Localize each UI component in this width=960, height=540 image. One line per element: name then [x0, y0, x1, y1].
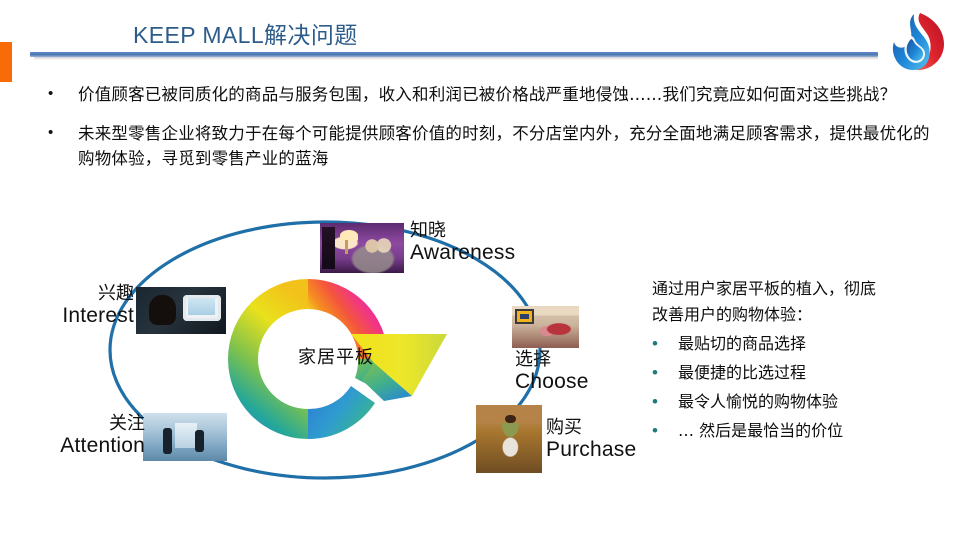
- benefit-text: … 然后是最恰当的价位: [678, 418, 843, 444]
- stage-label-en: Awareness: [410, 241, 515, 265]
- stage-label-en: Choose: [515, 370, 589, 394]
- bullet-text: 价值顾客已被同质化的商品与服务包围，收入和利润已被价格战严重地侵蚀……我们究竟应…: [78, 82, 896, 107]
- bullet-item: • 未来型零售企业将致力于在每个可能提供顾客价值的时刻，不分店堂内外，充分全面地…: [42, 121, 932, 171]
- stage-label-cn: 购买: [546, 418, 636, 438]
- stage-label-cn: 兴趣: [8, 284, 134, 304]
- cycle-stage-interest: 兴趣 Interest: [8, 284, 134, 328]
- bullet-marker: •: [42, 82, 78, 106]
- stage-label-en: Interest: [8, 304, 134, 328]
- benefit-item: • 最令人愉悦的购物体验: [652, 389, 952, 415]
- benefit-text: 最令人愉悦的购物体验: [678, 389, 838, 415]
- stage-label-cn: 关注: [5, 414, 145, 434]
- benefits-panel: 通过用户家居平板的植入，彻底 改善用户的购物体验： • 最贴切的商品选择 • 最…: [652, 276, 952, 444]
- shopper-checkout-photo: [476, 405, 542, 473]
- cycle-stage-choose: 选择 Choose: [515, 350, 589, 394]
- cycle-center-label: 家居平板: [298, 343, 374, 369]
- cycle-stage-awareness: 知晓 Awareness: [410, 221, 515, 265]
- benefit-bullet-marker: •: [652, 418, 678, 444]
- benefit-text: 最便捷的比选过程: [678, 360, 806, 386]
- benefit-bullet-marker: •: [652, 331, 678, 357]
- benefit-item: • … 然后是最恰当的价位: [652, 418, 952, 444]
- benefit-text: 最贴切的商品选择: [678, 331, 806, 357]
- stage-label-cn: 选择: [515, 350, 589, 370]
- benefit-bullet-marker: •: [652, 360, 678, 386]
- cycle-stage-attention: 关注 Attention: [5, 414, 145, 458]
- benefit-bullet-marker: •: [652, 389, 678, 415]
- corridor-walkers-photo: [143, 413, 227, 461]
- company-flame-logo: [884, 8, 952, 76]
- benefits-intro-line-1: 通过用户家居平板的植入，彻底: [652, 276, 952, 302]
- header-rule-shadow: [34, 57, 878, 60]
- benefits-intro-line-2: 改善用户的购物体验：: [652, 302, 952, 328]
- page-title: KEEP MALL解决问题: [133, 16, 358, 50]
- stage-label-cn: 知晓: [410, 221, 515, 241]
- stage-label-en: Purchase: [546, 438, 636, 462]
- customer-journey-cycle: 家居平板 知晓 Awareness 选择 Choose 购买 Purchase: [60, 205, 650, 505]
- cycle-stage-purchase: 购买 Purchase: [546, 418, 636, 462]
- living-room-tv-photo: [320, 223, 404, 273]
- kiosk-user-photo: [136, 287, 226, 334]
- benefit-item: • 最贴切的商品选择: [652, 331, 952, 357]
- benefit-item: • 最便捷的比选过程: [652, 360, 952, 386]
- bullet-text: 未来型零售企业将致力于在每个可能提供顾客价值的时刻，不分店堂内外，充分全面地满足…: [78, 121, 932, 171]
- stage-label-en: Attention: [5, 434, 145, 458]
- orange-accent-bar: [0, 42, 12, 82]
- bullet-list: • 价值顾客已被同质化的商品与服务包围，收入和利润已被价格战严重地侵蚀……我们究…: [42, 82, 932, 185]
- bullet-item: • 价值顾客已被同质化的商品与服务包围，收入和利润已被价格战严重地侵蚀……我们究…: [42, 82, 932, 107]
- supermarket-aisle-photo: [512, 306, 579, 348]
- slide-canvas: KEEP MALL解决问题 •: [0, 0, 960, 540]
- bullet-marker: •: [42, 121, 78, 145]
